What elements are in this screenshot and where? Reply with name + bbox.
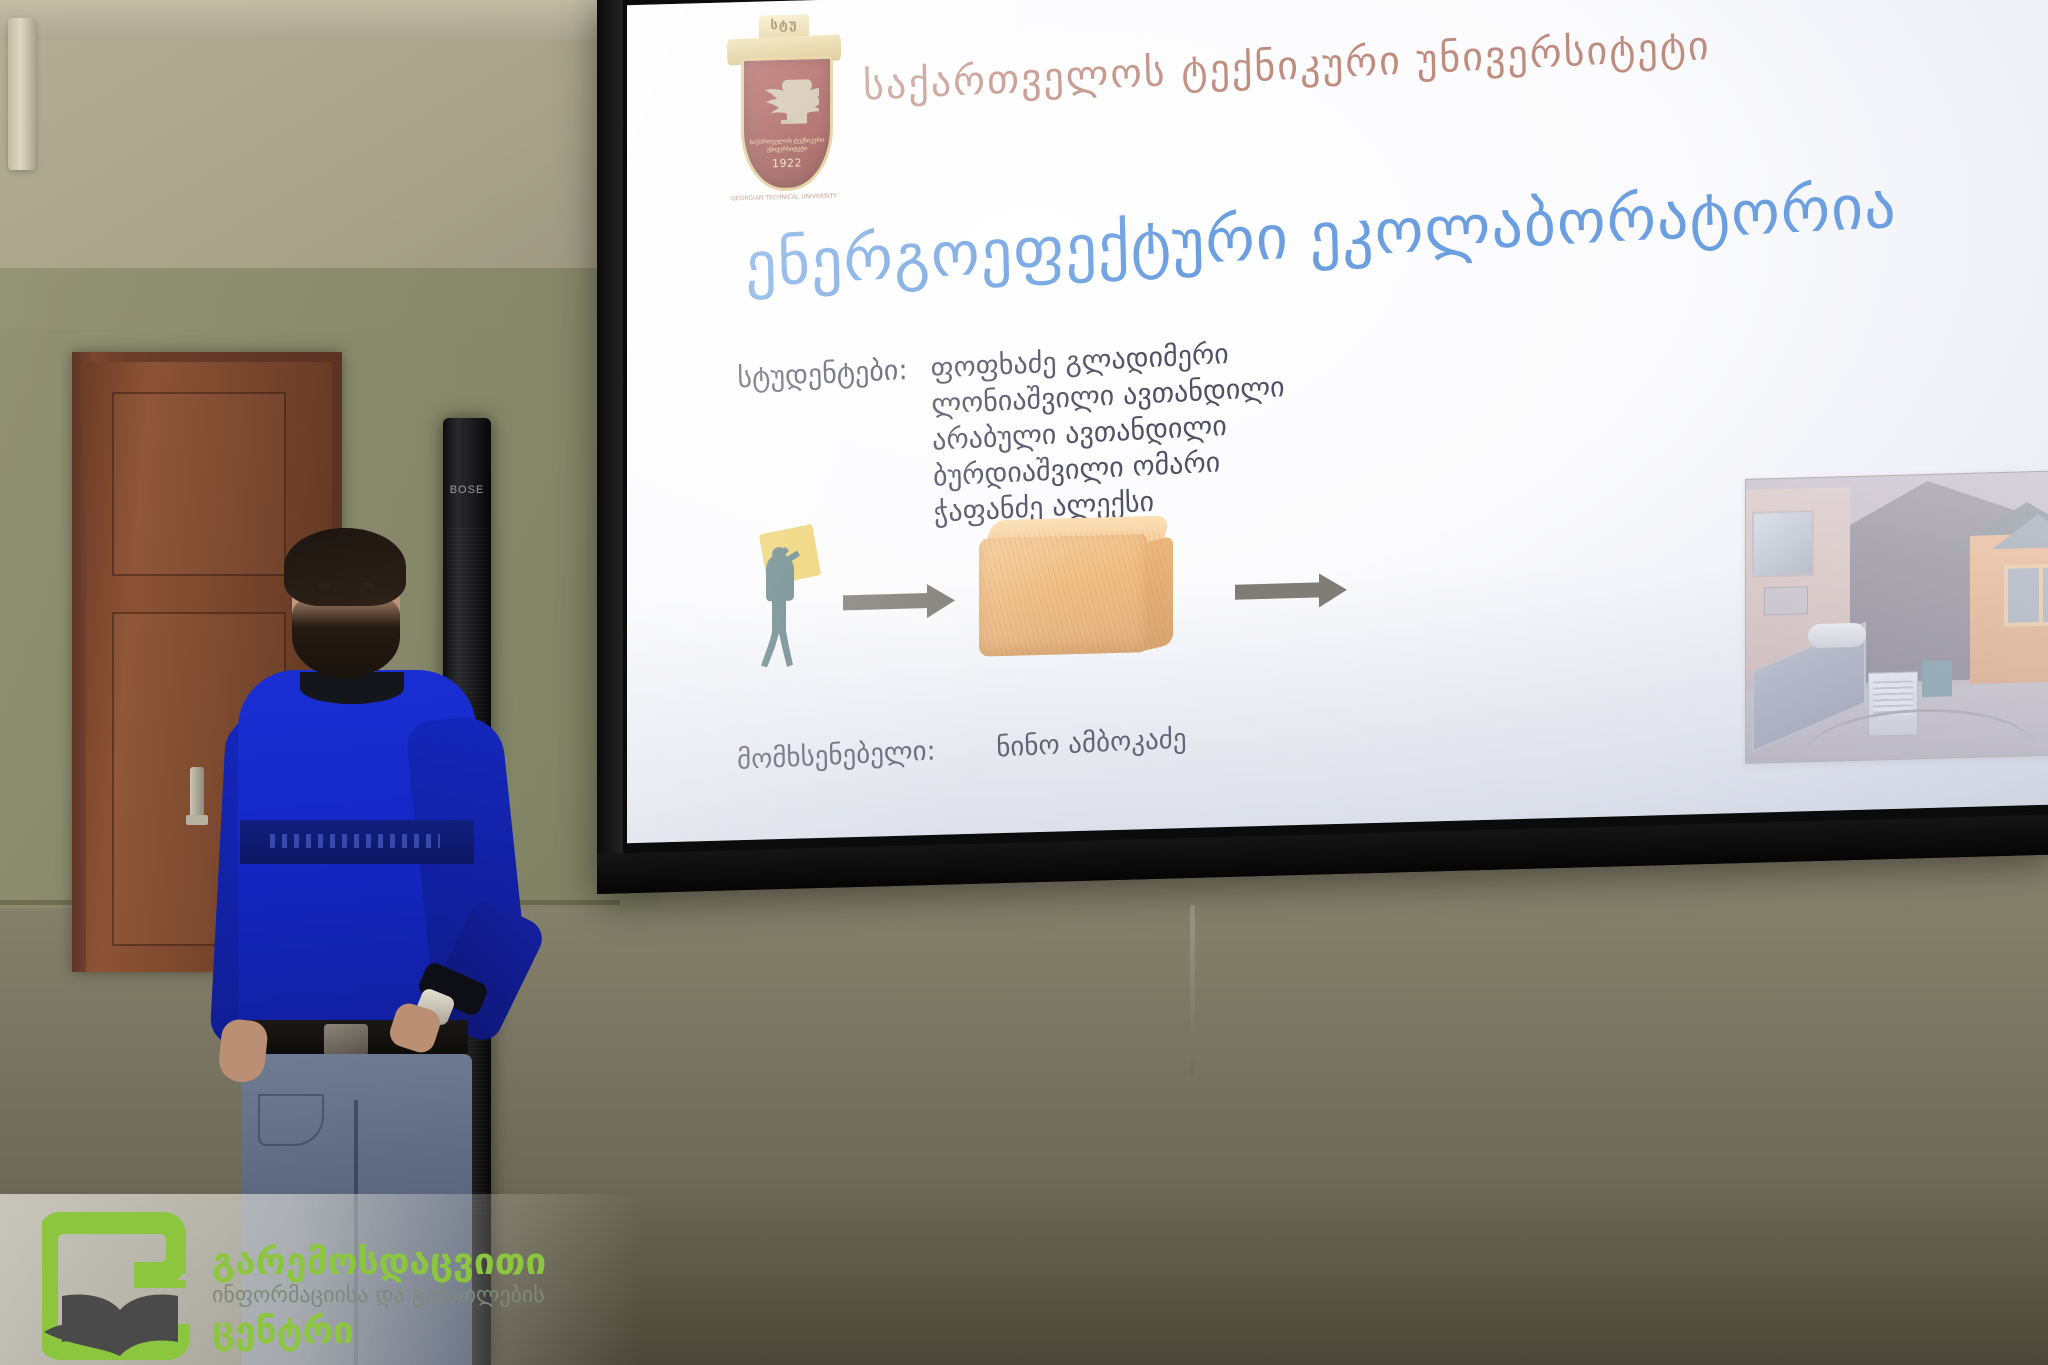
slide-title: ენერგოეფექტური ეკოლაბორატორია — [744, 169, 1897, 301]
emblem-motto: საქართველოს ტექნიკური უნივერსიტეტი — [744, 137, 830, 155]
photo-cabin-window — [2004, 563, 2048, 627]
watermark-line-1: გარემოსდაცვითი — [212, 1242, 546, 1282]
worker-carrying-straw-panel-icon — [749, 528, 819, 670]
students-label: სტუდენტები: — [737, 352, 908, 396]
arrow-right-icon-1 — [843, 588, 955, 613]
photo-barrel — [1922, 660, 1952, 697]
screen-bezel-left — [597, 0, 623, 894]
arrow-shaft — [1235, 582, 1321, 599]
screen-surface: სტუ საქართველოს ტექნიკური უნივერსიტეტი 1… — [627, 0, 2048, 843]
watermark-text: გარემოსდაცვითი ინფორმაციისა და განათლები… — [212, 1242, 546, 1352]
arrow-head — [927, 583, 955, 618]
watermark-line-2: ინფორმაციისა და განათლების — [212, 1282, 546, 1310]
watermark-line-3: ცენტრი — [212, 1310, 546, 1352]
presenter-name: ნინო ამბოკაძე — [996, 723, 1187, 763]
emblem-year: 1922 — [744, 156, 830, 171]
open-book-leaf-logo-icon — [42, 1204, 202, 1364]
photo-window — [1752, 510, 1814, 578]
person-eye-right — [362, 582, 375, 589]
screenshot-scene: BOSE სტუ საქა — [0, 0, 2048, 1365]
person-belt-buckle — [324, 1024, 368, 1056]
projection-screen: სტუ საქართველოს ტექნიკური უნივერსიტეტი 1… — [597, 0, 2048, 894]
university-emblem-icon: სტუ საქართველოს ტექნიკური უნივერსიტეტი 1… — [725, 11, 843, 200]
presenter-label: მომხსენებელი: — [737, 735, 936, 776]
emblem-base-text: GEORGIAN TECHNICAL UNIVERSITY — [725, 192, 843, 202]
arrow-head — [1319, 573, 1347, 608]
wall-vent-tube — [8, 18, 36, 170]
presenter-line: მომხსენებელი: ნინო ამბოკაძე — [737, 723, 1187, 776]
person-hair — [284, 528, 406, 606]
ceiling-band — [0, 0, 640, 40]
person-silhouette-icon — [749, 528, 819, 670]
jeans-pocket — [258, 1094, 324, 1146]
arrow-right-icon-2 — [1235, 578, 1347, 603]
bale-straw-texture — [981, 530, 1165, 655]
watermark-overlay: გარემოსდაცვითი ინფორმაციისა და განათლები… — [0, 1194, 640, 1365]
screen-pull-cord — [1190, 905, 1195, 1075]
presentation-slide: სტუ საქართველოს ტექნიკური უნივერსიტეტი 1… — [627, 0, 2048, 843]
university-name: საქართველოს ტექნიკური უნივერსიტეტი — [863, 23, 1711, 110]
photo-solar-water-tank — [1808, 623, 1866, 649]
speaker-brand-label: BOSE — [449, 484, 485, 498]
photo-ac-unit — [1764, 586, 1808, 615]
sweater-chest-band — [240, 820, 474, 864]
process-diagram — [727, 367, 2027, 702]
person-eye-left — [318, 582, 331, 589]
straw-bale-block-icon — [979, 515, 1175, 660]
person-beard — [292, 596, 400, 678]
eco-house-photo — [1745, 469, 2048, 764]
emblem-banner-text: სტუ — [759, 17, 809, 33]
eagle-icon — [755, 75, 819, 133]
arrow-shaft — [843, 593, 929, 610]
emblem-shield: საქართველოს ტექნიკური უნივერსიტეტი 1922 — [741, 56, 833, 192]
